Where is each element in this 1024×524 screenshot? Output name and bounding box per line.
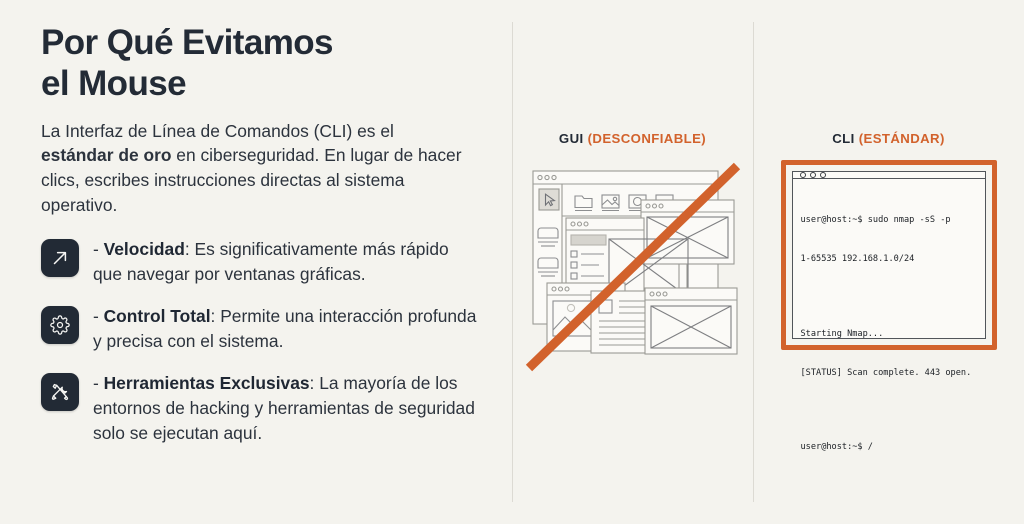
list-item-text: - Velocidad: Es significativamente más r… bbox=[93, 237, 482, 287]
terminal-output: user@host:~$ sudo nmap -sS -p 1-65535 19… bbox=[793, 179, 985, 480]
gui-heading-accent: (DESCONFIABLE) bbox=[588, 131, 706, 146]
terminal-line-command-1: user@host:~$ sudo nmap -sS -p bbox=[801, 214, 978, 227]
intro-emphasis: estándar de oro bbox=[41, 145, 171, 165]
gui-panel-heading: GUI (DESCONFIABLE) bbox=[512, 131, 753, 146]
gui-heading-main: GUI bbox=[559, 131, 588, 146]
arrow-up-right-icon bbox=[41, 239, 79, 277]
terminal-line-command-2: 1-65535 192.168.1.0/24 bbox=[801, 253, 978, 266]
list-item: - Velocidad: Es significativamente más r… bbox=[41, 237, 482, 287]
list-item-text: - Herramientas Exclusivas: La mayoría de… bbox=[93, 371, 482, 446]
terminal-line-starting: Starting Nmap... bbox=[801, 328, 978, 341]
benefit-list: - Velocidad: Es significativamente más r… bbox=[41, 237, 482, 445]
list-item-text: - Control Total: Permite una interacción… bbox=[93, 304, 482, 354]
window-dot-icon bbox=[800, 172, 806, 178]
gui-wireframe-illustration bbox=[519, 160, 747, 375]
cli-panel-heading: CLI (ESTÁNDAR) bbox=[753, 131, 1024, 146]
intro-paragraph: La Interfaz de Línea de Comandos (CLI) e… bbox=[41, 119, 466, 219]
cli-heading-accent: (ESTÁNDAR) bbox=[859, 131, 945, 146]
terminal-window[interactable]: user@host:~$ sudo nmap -sS -p 1-65535 19… bbox=[792, 171, 986, 339]
terminal-spacer bbox=[801, 406, 978, 415]
list-item: - Control Total: Permite una interacción… bbox=[41, 304, 482, 354]
slide-root: Por Qué Evitamos el Mouse La Interfaz de… bbox=[0, 0, 1024, 524]
terminal-line-prompt: user@host:~$ / bbox=[801, 441, 978, 454]
intro-prefix: La Interfaz de Línea de Comandos (CLI) e… bbox=[41, 121, 394, 141]
terminal-titlebar bbox=[793, 172, 985, 179]
terminal-frame: user@host:~$ sudo nmap -sS -p 1-65535 19… bbox=[781, 160, 997, 350]
page-title: Por Qué Evitamos el Mouse bbox=[41, 22, 482, 105]
window-dot-icon bbox=[810, 172, 816, 178]
gui-panel: GUI (DESCONFIABLE) bbox=[512, 0, 753, 524]
cli-panel: CLI (ESTÁNDAR) user@host:~$ sudo nmap -s… bbox=[753, 0, 1024, 524]
list-item-dash: - bbox=[93, 373, 104, 393]
list-item-term: Control Total bbox=[104, 306, 211, 326]
terminal-line-status: [STATUS] Scan complete. 443 open. bbox=[801, 367, 978, 380]
list-item-term: Velocidad bbox=[104, 239, 185, 259]
column-divider bbox=[512, 22, 513, 502]
gear-icon bbox=[41, 306, 79, 344]
column-divider bbox=[753, 22, 754, 502]
terminal-spacer bbox=[801, 293, 978, 302]
left-content-column: Por Qué Evitamos el Mouse La Interfaz de… bbox=[0, 0, 512, 524]
list-item-dash: - bbox=[93, 306, 104, 326]
tools-icon bbox=[41, 373, 79, 411]
window-dot-icon bbox=[820, 172, 826, 178]
list-item-dash: - bbox=[93, 239, 104, 259]
cli-heading-main: CLI bbox=[832, 131, 859, 146]
list-item: - Herramientas Exclusivas: La mayoría de… bbox=[41, 371, 482, 446]
list-item-term: Herramientas Exclusivas bbox=[104, 373, 310, 393]
